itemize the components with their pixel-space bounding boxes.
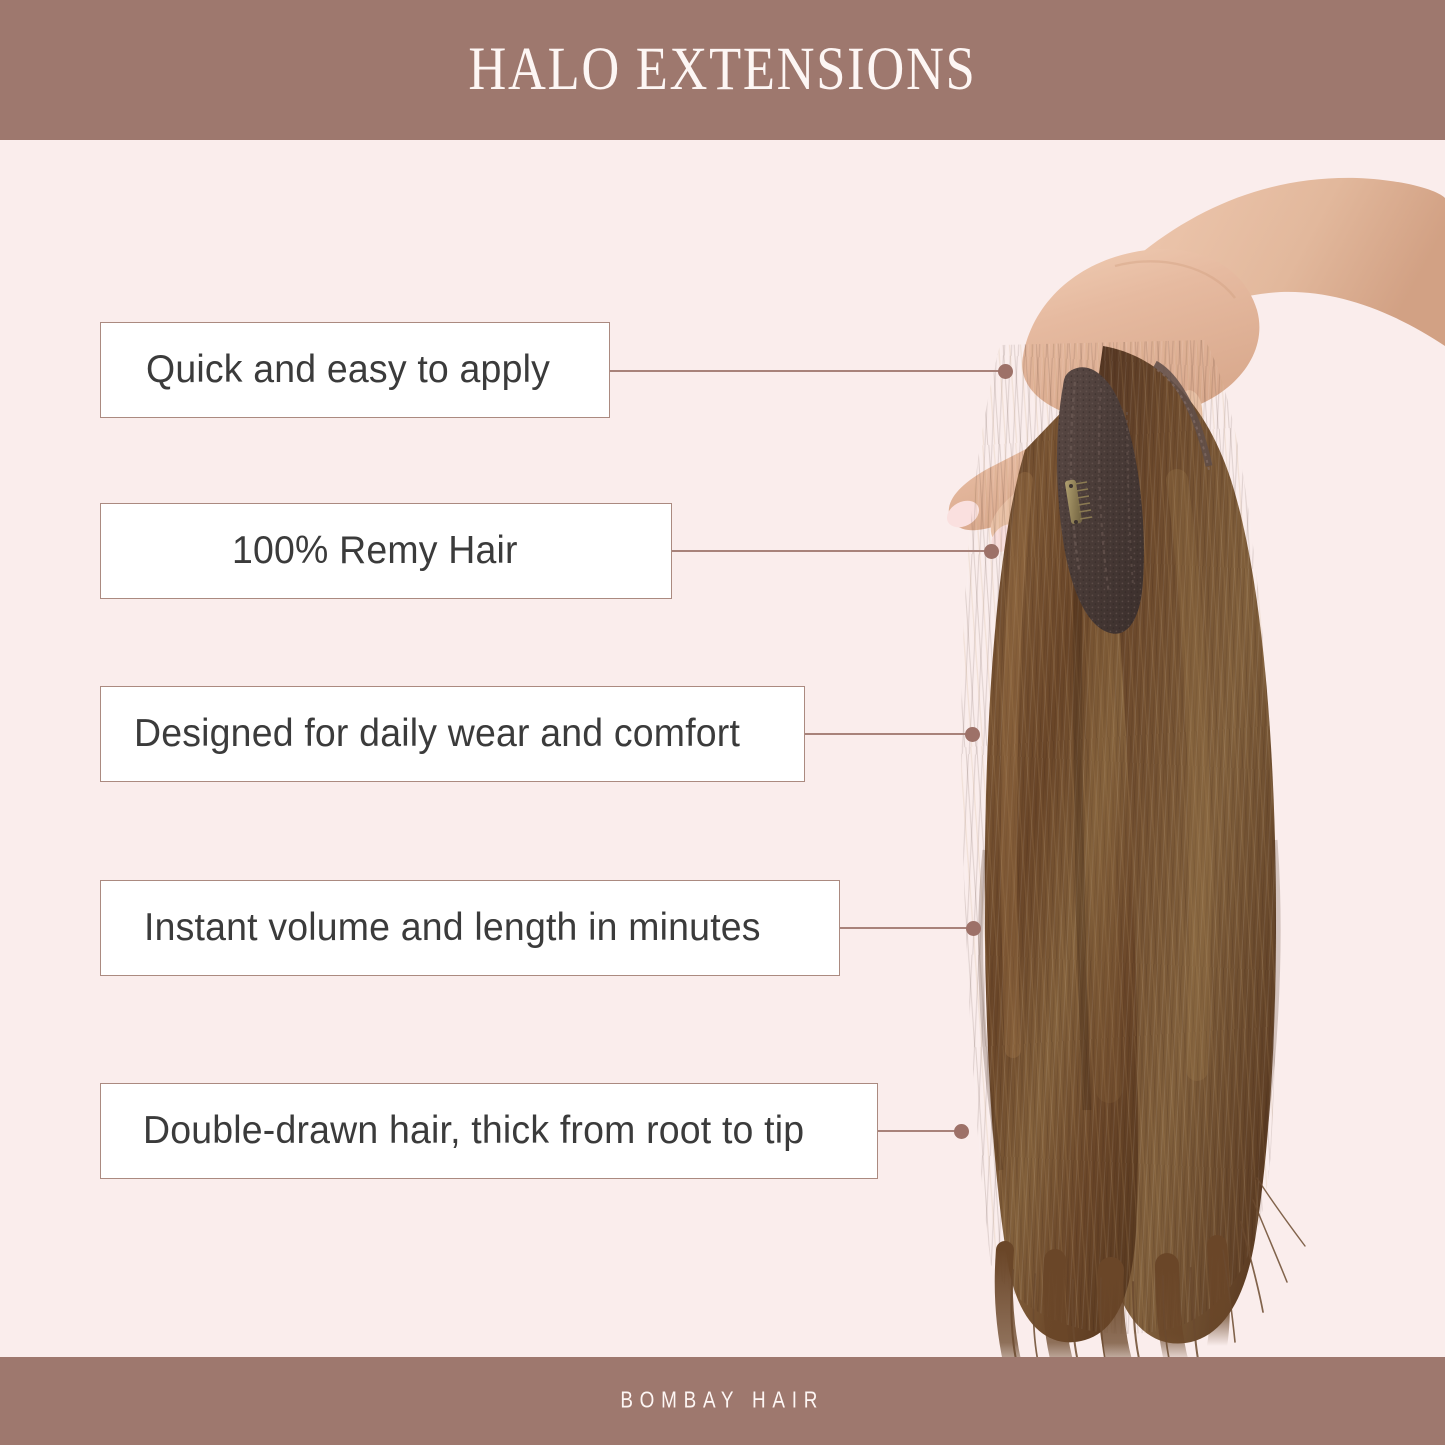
connector-dot-5 bbox=[954, 1124, 969, 1139]
hand-holding-halo-extension-illustration bbox=[905, 150, 1445, 1365]
connector-dot-2 bbox=[984, 544, 999, 559]
connector-line-1 bbox=[610, 370, 1006, 372]
brand-wordmark: BOMBAY HAIR bbox=[621, 1388, 825, 1415]
connector-line-5 bbox=[878, 1130, 962, 1132]
callout-box-4[interactable]: Instant volume and length in minutes bbox=[100, 880, 840, 976]
callout-label-3: Designed for daily wear and comfort bbox=[134, 712, 740, 756]
connector-line-3 bbox=[805, 733, 973, 735]
hair-body bbox=[905, 300, 1445, 1365]
callout-label-1: Quick and easy to apply bbox=[146, 348, 550, 392]
connector-line-4 bbox=[840, 927, 974, 929]
callout-label-5: Double-drawn hair, thick from root to ti… bbox=[143, 1109, 804, 1153]
connector-dot-3 bbox=[965, 727, 980, 742]
connector-dot-1 bbox=[998, 364, 1013, 379]
callout-label-2: 100% Remy Hair bbox=[232, 529, 518, 573]
header-bar: HALO EXTENSIONS bbox=[0, 0, 1445, 140]
callout-box-2[interactable]: 100% Remy Hair bbox=[100, 503, 672, 599]
callout-box-3[interactable]: Designed for daily wear and comfort bbox=[100, 686, 805, 782]
callout-box-1[interactable]: Quick and easy to apply bbox=[100, 322, 610, 418]
product-image bbox=[905, 150, 1445, 1365]
infographic-canvas: HALO EXTENSIONS bbox=[0, 0, 1445, 1445]
footer-bar: BOMBAY HAIR bbox=[0, 1357, 1445, 1445]
callout-box-5[interactable]: Double-drawn hair, thick from root to ti… bbox=[100, 1083, 878, 1179]
page-title: HALO EXTENSIONS bbox=[468, 35, 976, 105]
connector-dot-4 bbox=[966, 921, 981, 936]
connector-line-2 bbox=[672, 550, 992, 552]
callout-label-4: Instant volume and length in minutes bbox=[144, 906, 761, 950]
